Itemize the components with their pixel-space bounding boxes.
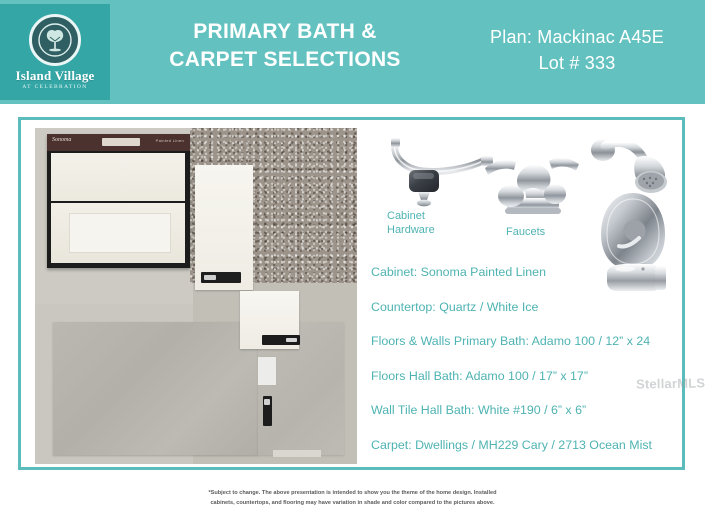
tile-sample-sticker [262, 335, 300, 345]
spec-item-primary-bath: Floors & Walls Primary Bath: Adamo 100 /… [371, 335, 683, 347]
logo-subtitle: AT CELEBRATION [22, 84, 87, 90]
spec-item-hall-bath-wall: Wall Tile Hall Bath: White #190 / 6” x 6… [371, 404, 683, 416]
lot-number: Lot # 333 [452, 51, 702, 77]
cabinet-brand-sub-label: Painted Linen [156, 138, 184, 143]
sample-tag-black [263, 396, 272, 426]
cabinet-hardware-label-line2: Hardware [387, 224, 435, 238]
cabinet-door-inset-panel [69, 213, 171, 253]
page-header: Island Village AT CELEBRATION PRIMARY BA… [0, 0, 705, 104]
fixtures-group: Cabinet Hardware Faucets [371, 128, 681, 288]
cabinet-hardware-label-line1: Cabinet [387, 210, 435, 224]
lavatory-faucet-icon [481, 146, 585, 226]
faucets-label: Faucets [506, 226, 545, 240]
material-sample-board-photo: Sonoma Painted Linen [35, 128, 357, 464]
wall-tile-sample-square [240, 291, 299, 349]
cabinet-drawer-front-sample [51, 153, 185, 201]
selection-spec-list: Cabinet: Sonoma Painted Linen Countertop… [371, 266, 683, 474]
wall-tile-sample-vertical [195, 165, 253, 290]
disclaimer-line1: *Subject to change. The above presentati… [0, 488, 705, 498]
cabinet-door-front-sample [51, 203, 185, 263]
disclaimer-line2: cabinets, countertops, and flooring may … [0, 498, 705, 508]
cabinet-finish-chip [102, 138, 140, 146]
spec-item-hall-bath-floor: Floors Hall Bath: Adamo 100 / 17” x 17” [371, 370, 683, 382]
page-title-line2: CARPET SELECTIONS [120, 46, 450, 74]
selections-card: Sonoma Painted Linen [18, 117, 685, 470]
sample-tag-strip [273, 450, 321, 457]
tree-emblem-icon [29, 14, 81, 66]
page-title: PRIMARY BATH & CARPET SELECTIONS [120, 18, 450, 74]
spec-item-countertop: Countertop: Quartz / White Ice [371, 301, 683, 313]
brand-logo: Island Village AT CELEBRATION [0, 4, 110, 100]
spec-item-carpet: Carpet: Dwellings / MH229 Cary / 2713 Oc… [371, 439, 683, 451]
sample-tag-clear [257, 356, 277, 386]
logo-name: Island Village [15, 69, 94, 82]
large-floor-tile-sample [53, 322, 258, 455]
cabinet-sample-header: Sonoma Painted Linen [47, 134, 190, 151]
page-title-line1: PRIMARY BATH & [120, 18, 450, 46]
cabinet-knob-icon [404, 166, 446, 210]
tile-sample-sticker [201, 272, 241, 283]
spec-item-cabinet: Cabinet: Sonoma Painted Linen [371, 266, 683, 278]
cabinet-brand-label: Sonoma [52, 137, 71, 143]
plan-name: Plan: Mackinac A45E [452, 25, 702, 51]
plan-info: Plan: Mackinac A45E Lot # 333 [452, 25, 702, 76]
disclaimer-footer: *Subject to change. The above presentati… [0, 488, 705, 509]
cabinet-door-sample: Sonoma Painted Linen [47, 134, 190, 268]
cabinet-hardware-label: Cabinet Hardware [387, 210, 435, 238]
